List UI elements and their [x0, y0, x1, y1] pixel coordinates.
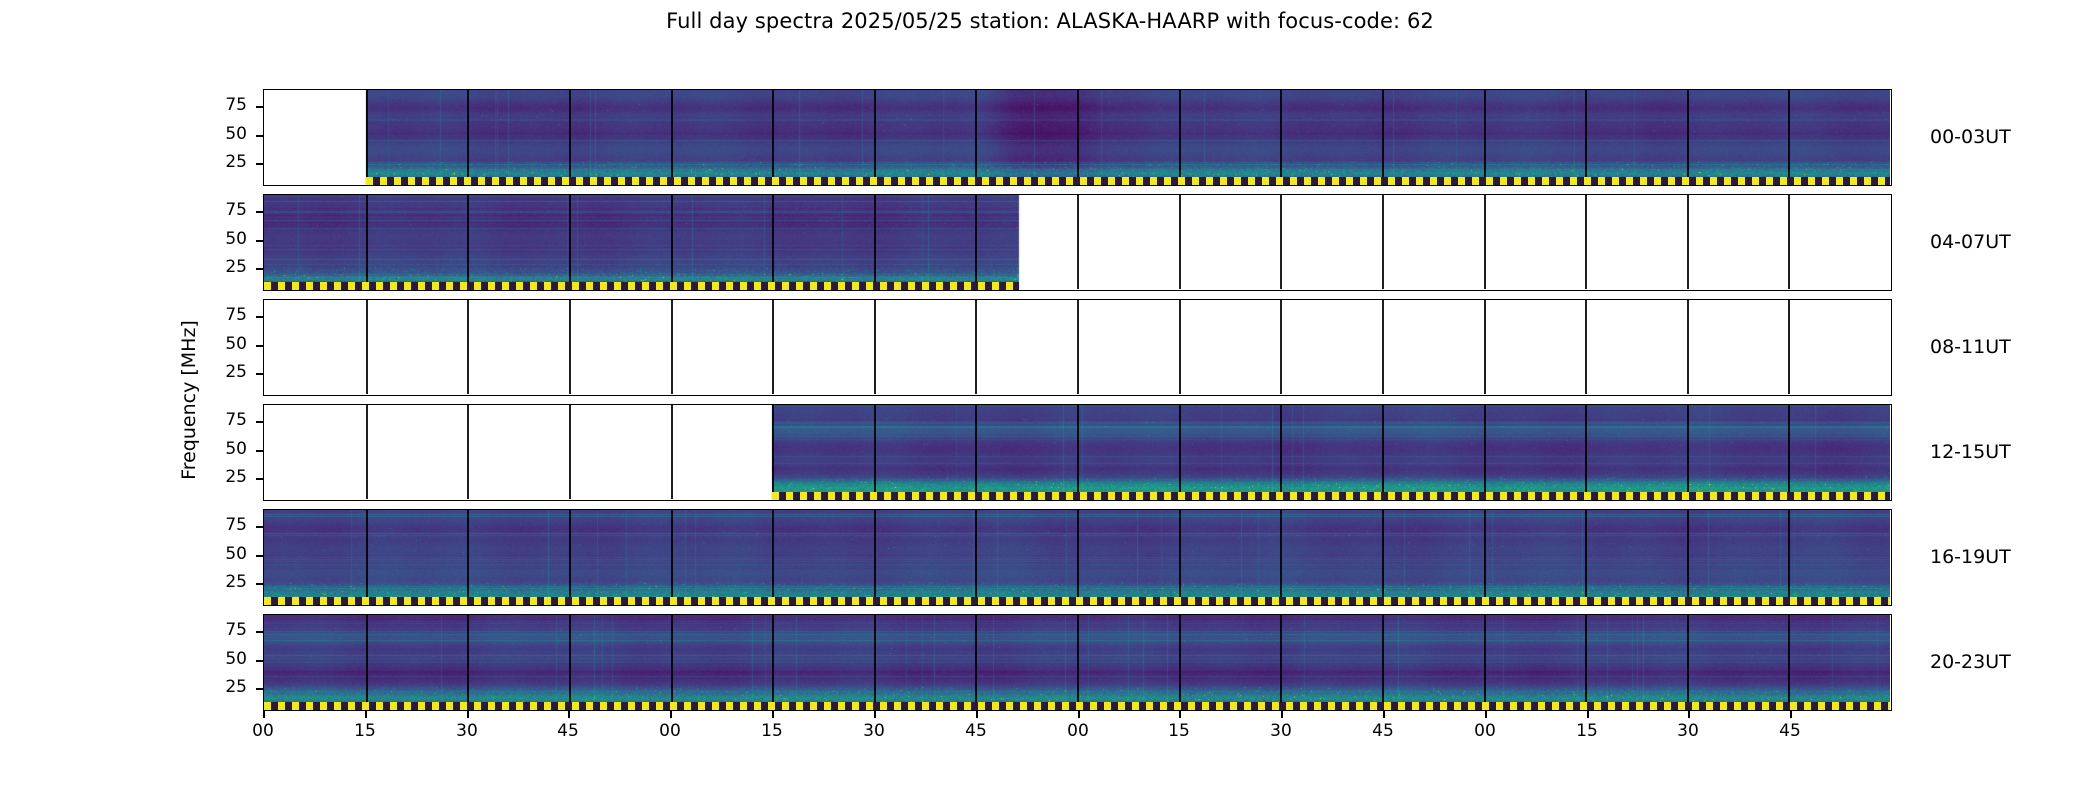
panel-gridline: [1484, 300, 1486, 394]
data-coverage-marker: [264, 702, 1890, 710]
data-coverage-marker: [772, 492, 1890, 500]
panel-gridline: [1077, 300, 1079, 394]
y-tick-label: 25: [197, 362, 247, 382]
y-tick-mark: [256, 583, 264, 585]
y-tick-label: 50: [197, 649, 247, 669]
panel-gridline: [1179, 405, 1181, 499]
x-tick-label: 30: [1241, 721, 1321, 741]
panel-gridline: [1382, 195, 1384, 289]
panel-gridline: [975, 615, 977, 709]
panel-gridline: [1687, 615, 1689, 709]
x-tick-mark: [772, 711, 774, 718]
panel-time-label-04-07ut: 04-07UT: [1930, 231, 2011, 253]
panel-gridline: [1179, 615, 1181, 709]
panel-gridline: [975, 195, 977, 289]
panel-gridline: [1687, 300, 1689, 394]
x-tick-mark: [1078, 711, 1080, 718]
panel-gridline: [1280, 510, 1282, 604]
panel-gridline: [569, 510, 571, 604]
panel-gridline: [569, 195, 571, 289]
panel-gridline: [671, 300, 673, 394]
x-tick-mark: [568, 711, 570, 718]
y-tick-label: 50: [197, 229, 247, 249]
panel-gridline: [1687, 90, 1689, 184]
y-tick-mark: [256, 345, 264, 347]
x-tick-label: 00: [1038, 721, 1118, 741]
y-tick-label: 25: [197, 152, 247, 172]
y-tick-label: 75: [197, 95, 247, 115]
panel-gridline: [1585, 195, 1587, 289]
y-tick-mark: [256, 240, 264, 242]
panel-gridline: [671, 90, 673, 184]
spectrogram-panel-00-03ut[interactable]: [263, 89, 1892, 186]
y-tick-mark: [256, 478, 264, 480]
panel-gridline: [467, 90, 469, 184]
panel-gridline: [1382, 510, 1384, 604]
panel-gridline: [671, 510, 673, 604]
x-tick-label: 30: [1648, 721, 1728, 741]
x-tick-label: 15: [325, 721, 405, 741]
x-tick-label: 30: [834, 721, 914, 741]
y-tick-mark: [256, 373, 264, 375]
panel-gridline: [1179, 90, 1181, 184]
page-title: Full day spectra 2025/05/25 station: ALA…: [0, 9, 2100, 33]
y-tick-mark: [256, 163, 264, 165]
y-tick-mark: [256, 106, 264, 108]
panel-gridline: [1788, 405, 1790, 499]
y-tick-label: 50: [197, 544, 247, 564]
y-tick-label: 75: [197, 515, 247, 535]
panel-gridline: [772, 195, 774, 289]
panel-gridline: [772, 615, 774, 709]
y-tick-label: 25: [197, 572, 247, 592]
panel-gridline: [874, 615, 876, 709]
x-tick-label: 00: [1445, 721, 1525, 741]
y-tick-mark: [256, 211, 264, 213]
panel-gridline: [1179, 510, 1181, 604]
y-tick-mark: [256, 660, 264, 662]
x-tick-mark: [1790, 711, 1792, 718]
panel-gridline: [874, 510, 876, 604]
y-tick-mark: [256, 421, 264, 423]
panel-gridline: [1585, 300, 1587, 394]
panel-gridline: [1179, 195, 1181, 289]
panel-gridline: [366, 615, 368, 709]
panel-gridline: [1585, 90, 1587, 184]
x-tick-mark: [1179, 711, 1181, 718]
panel-gridline: [671, 195, 673, 289]
panel-gridline: [569, 615, 571, 709]
y-tick-mark: [256, 526, 264, 528]
x-tick-label: 15: [1547, 721, 1627, 741]
panel-gridline: [772, 300, 774, 394]
x-tick-mark: [670, 711, 672, 718]
panel-gridline: [975, 300, 977, 394]
panel-gridline: [1788, 510, 1790, 604]
x-tick-mark: [467, 711, 469, 718]
panel-time-label-16-19ut: 16-19UT: [1930, 546, 2011, 568]
panel-gridline: [975, 90, 977, 184]
panel-gridline: [1382, 615, 1384, 709]
panel-gridline: [1077, 405, 1079, 499]
panel-time-label-08-11ut: 08-11UT: [1930, 336, 2011, 358]
y-tick-label: 50: [197, 334, 247, 354]
panel-gridline: [467, 195, 469, 289]
x-tick-mark: [976, 711, 978, 718]
x-tick-mark: [1281, 711, 1283, 718]
x-tick-label: 30: [427, 721, 507, 741]
panel-gridline: [1788, 90, 1790, 184]
x-tick-mark: [263, 711, 265, 718]
x-tick-label: 00: [630, 721, 710, 741]
data-coverage-marker: [264, 282, 1019, 290]
y-tick-label: 25: [197, 467, 247, 487]
panel-gridline: [1484, 615, 1486, 709]
panel-gridline: [1788, 195, 1790, 289]
y-tick-label: 50: [197, 124, 247, 144]
panel-gridline: [1280, 615, 1282, 709]
panel-gridline: [569, 405, 571, 499]
y-tick-mark: [256, 316, 264, 318]
y-tick-mark: [256, 688, 264, 690]
panel-gridline: [1687, 195, 1689, 289]
panel-gridline: [1382, 90, 1384, 184]
y-tick-label: 50: [197, 439, 247, 459]
y-tick-label: 75: [197, 200, 247, 220]
panel-gridline: [1585, 405, 1587, 499]
spectrogram-panel-04-07ut[interactable]: [263, 194, 1892, 291]
y-tick-mark: [256, 135, 264, 137]
panel-gridline: [366, 90, 368, 184]
x-tick-mark: [874, 711, 876, 718]
y-tick-label: 75: [197, 410, 247, 430]
panel-gridline: [671, 615, 673, 709]
panel-gridline: [1077, 195, 1079, 289]
y-tick-mark: [256, 450, 264, 452]
x-tick-mark: [1485, 711, 1487, 718]
panel-gridline: [1788, 300, 1790, 394]
spectrogram-panel-08-11ut[interactable]: [263, 299, 1892, 396]
x-tick-label: 45: [1343, 721, 1423, 741]
x-tick-label: 45: [1750, 721, 1830, 741]
x-tick-label: 15: [732, 721, 812, 741]
panel-gridline: [1687, 510, 1689, 604]
x-tick-label: 45: [936, 721, 1016, 741]
panel-gridline: [874, 90, 876, 184]
y-tick-label: 25: [197, 257, 247, 277]
panel-gridline: [467, 405, 469, 499]
x-tick-label: 15: [1139, 721, 1219, 741]
panel-gridline: [1077, 510, 1079, 604]
panel-gridline: [874, 300, 876, 394]
panel-gridline: [671, 405, 673, 499]
panel-gridline: [1280, 405, 1282, 499]
y-tick-mark: [256, 631, 264, 633]
panel-gridline: [1077, 615, 1079, 709]
x-tick-mark: [1688, 711, 1690, 718]
y-tick-label: 75: [197, 305, 247, 325]
y-tick-label: 75: [197, 620, 247, 640]
y-tick-mark: [256, 555, 264, 557]
panel-gridline: [975, 510, 977, 604]
x-tick-label: 00: [223, 721, 303, 741]
panel-gridline: [1280, 300, 1282, 394]
panel-gridline: [1382, 405, 1384, 499]
panel-gridline: [569, 90, 571, 184]
panel-gridline: [1484, 405, 1486, 499]
panel-gridline: [1484, 90, 1486, 184]
panel-gridline: [1077, 90, 1079, 184]
panel-gridline: [1484, 195, 1486, 289]
x-tick-label: 45: [528, 721, 608, 741]
panel-gridline: [1484, 510, 1486, 604]
panel-gridline: [772, 405, 774, 499]
panel-gridline: [1687, 405, 1689, 499]
figure-canvas: Full day spectra 2025/05/25 station: ALA…: [0, 0, 2100, 800]
panel-gridline: [772, 90, 774, 184]
spectrogram-panel-16-19ut[interactable]: [263, 509, 1892, 606]
x-tick-mark: [1383, 711, 1385, 718]
x-tick-mark: [365, 711, 367, 718]
panel-gridline: [467, 510, 469, 604]
panel-gridline: [1179, 300, 1181, 394]
panel-gridline: [366, 405, 368, 499]
panel-gridline: [1788, 615, 1790, 709]
panel-gridline: [467, 300, 469, 394]
panel-gridline: [366, 195, 368, 289]
data-coverage-marker: [366, 177, 1890, 185]
data-coverage-marker: [264, 597, 1890, 605]
panel-time-label-00-03ut: 00-03UT: [1930, 126, 2011, 148]
panel-gridline: [1382, 300, 1384, 394]
spectrogram-panel-12-15ut[interactable]: [263, 404, 1892, 501]
panel-gridline: [569, 300, 571, 394]
panel-gridline: [975, 405, 977, 499]
panel-gridline: [1585, 510, 1587, 604]
y-tick-label: 25: [197, 677, 247, 697]
panel-time-label-20-23ut: 20-23UT: [1930, 651, 2011, 673]
panel-gridline: [874, 195, 876, 289]
y-tick-mark: [256, 268, 264, 270]
panel-time-label-12-15ut: 12-15UT: [1930, 441, 2011, 463]
panel-gridline: [1585, 615, 1587, 709]
panel-gridline: [1280, 90, 1282, 184]
panel-gridline: [467, 615, 469, 709]
panel-gridline: [1280, 195, 1282, 289]
panel-gridline: [874, 405, 876, 499]
x-tick-mark: [1587, 711, 1589, 718]
panel-gridline: [366, 510, 368, 604]
panel-gridline: [366, 300, 368, 394]
spectrogram-panel-20-23ut[interactable]: [263, 614, 1892, 711]
panel-gridline: [772, 510, 774, 604]
